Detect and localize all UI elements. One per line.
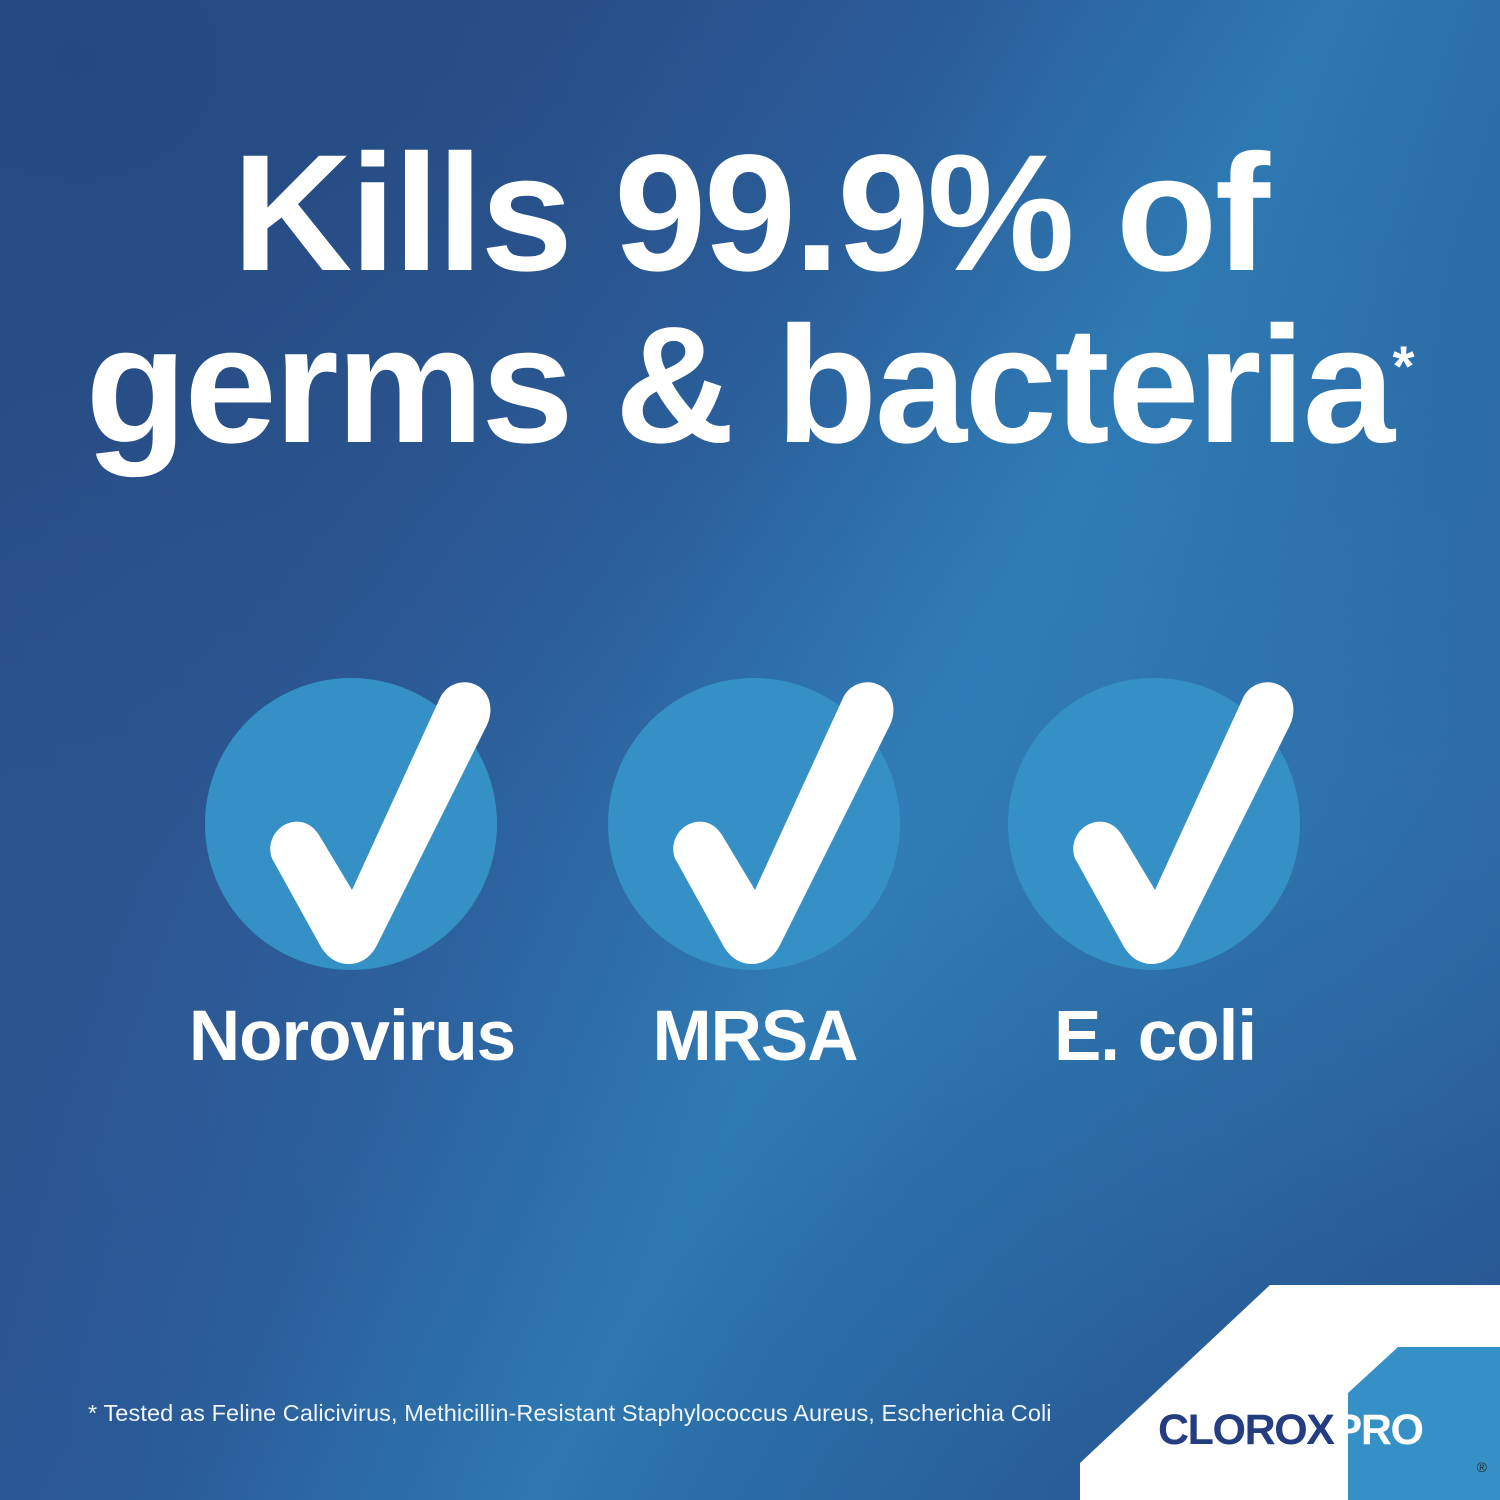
logo-pro-text: PRO — [1334, 1406, 1423, 1454]
germ-badge-norovirus: Norovirus — [197, 662, 507, 1112]
footnote-text: * Tested as Feline Calicivirus, Methicil… — [88, 1400, 1052, 1427]
headline-line-2: germs & bacteria — [85, 293, 1392, 478]
check-icon — [1000, 662, 1310, 982]
headline: Kills 99.9% of germs & bacteria* — [0, 128, 1500, 472]
check-icon — [600, 662, 910, 982]
check-icon — [197, 662, 507, 982]
logo-wordmark: CLOROXPRO — [1158, 1409, 1423, 1452]
germ-badge-mrsa: MRSA — [600, 662, 910, 1112]
footnote-marker: * — [1393, 335, 1415, 398]
registered-trademark-icon: ® — [1477, 1460, 1487, 1474]
headline-line-2-wrap: germs & bacteria* — [0, 300, 1500, 472]
promo-graphic: Kills 99.9% of germs & bacteria* Norovir… — [0, 0, 1500, 1500]
badge-label: E. coli — [910, 996, 1400, 1077]
logo-band-shape — [1080, 1285, 1500, 1500]
germ-badge-row: Norovirus MRSA E. coli — [0, 662, 1500, 1112]
germ-badge-ecoli: E. coli — [1000, 662, 1310, 1112]
logo-clorox-text: CLOROX — [1158, 1406, 1334, 1454]
cloroxpro-logo: CLOROXPRO ® — [1080, 1285, 1500, 1500]
headline-line-1: Kills 99.9% of — [0, 128, 1500, 300]
